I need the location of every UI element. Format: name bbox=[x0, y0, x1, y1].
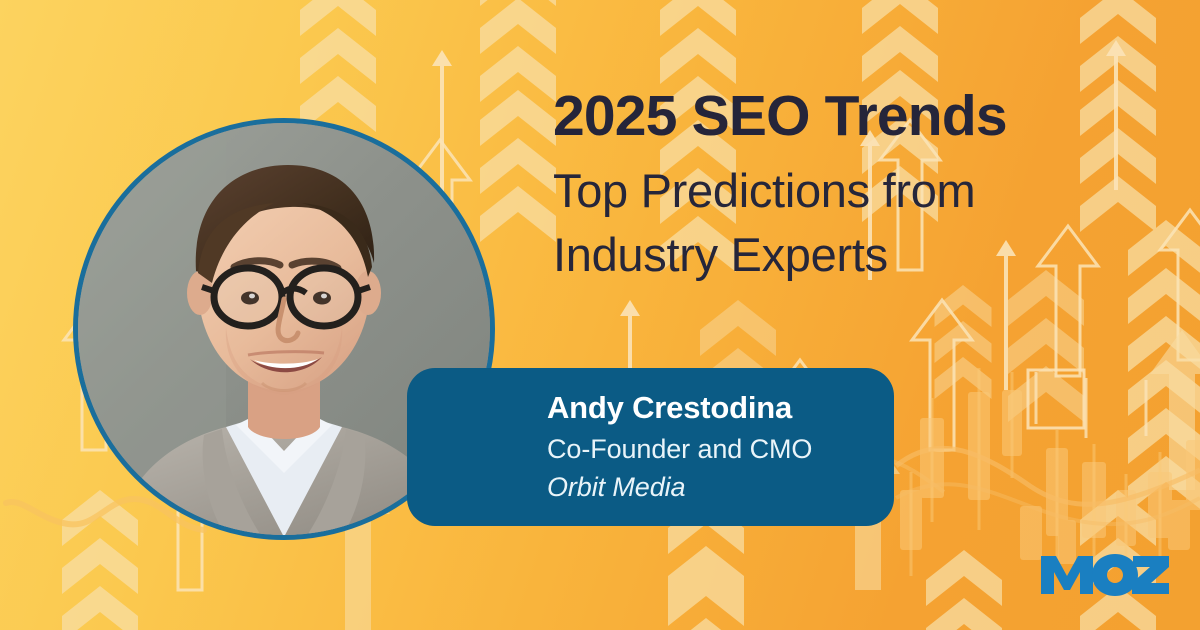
speaker-card: Andy Crestodina Co-Founder and CMO Orbit… bbox=[407, 368, 894, 526]
social-card-canvas: 2025 SEO Trends Top Predictions from Ind… bbox=[0, 0, 1200, 630]
moz-logo: MOZ bbox=[1041, 552, 1169, 598]
speaker-name: Andy Crestodina bbox=[547, 390, 812, 427]
speaker-company: Orbit Media bbox=[547, 470, 812, 505]
speaker-role: Co-Founder and CMO bbox=[547, 432, 812, 467]
speaker-card-text: Andy Crestodina Co-Founder and CMO Orbit… bbox=[547, 390, 812, 505]
page-title: 2025 SEO Trends bbox=[553, 86, 1173, 148]
subtitle-line-1: Top Predictions from bbox=[553, 160, 1173, 221]
subtitle-line-2: Industry Experts bbox=[553, 224, 1173, 285]
headline-block: 2025 SEO Trends Top Predictions from Ind… bbox=[553, 86, 1173, 285]
pattern-bars bbox=[900, 390, 1200, 564]
